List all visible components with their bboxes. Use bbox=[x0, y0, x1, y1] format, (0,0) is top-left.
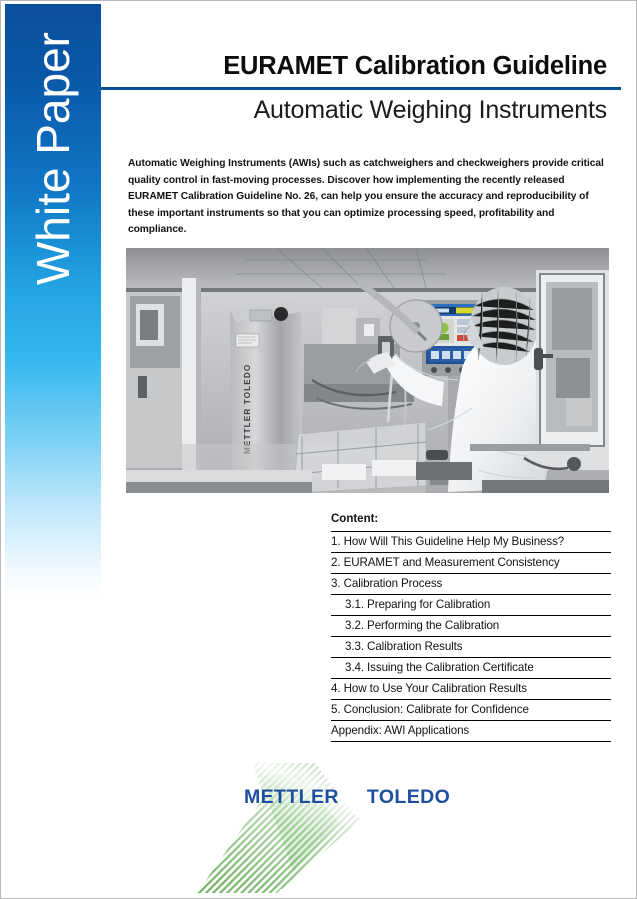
page-title: EURAMET Calibration Guideline bbox=[101, 1, 621, 80]
toc-item[interactable]: 5. Conclusion: Calibrate for Confidence bbox=[331, 700, 611, 721]
hero-photo-illustration: METTLER TOLEDO bbox=[126, 248, 609, 493]
toc-item[interactable]: Appendix: AWI Applications bbox=[331, 721, 611, 742]
logo-word-mettler: METTLER bbox=[244, 786, 339, 808]
logo-word-toledo: TOLEDO bbox=[367, 786, 450, 808]
toc-item[interactable]: 3.3. Calibration Results bbox=[331, 637, 611, 658]
white-paper-page: White Paper EURAMET Calibration Guidelin… bbox=[0, 0, 637, 899]
toc-item[interactable]: 3.4. Issuing the Calibration Certificate bbox=[331, 658, 611, 679]
photo-equipment-brand-text: METTLER TOLEDO bbox=[243, 364, 252, 454]
toc-item[interactable]: 3.1. Preparing for Calibration bbox=[331, 595, 611, 616]
content-heading: Content: bbox=[331, 513, 611, 525]
toc-item[interactable]: 3. Calibration Process bbox=[331, 574, 611, 595]
page-subtitle: Automatic Weighing Instruments bbox=[101, 90, 621, 125]
logo-wordmark: METTLERTOLEDO bbox=[244, 786, 450, 809]
intro-paragraph: Automatic Weighing Instruments (AWIs) su… bbox=[128, 156, 611, 239]
toc-item[interactable]: 4. How to Use Your Calibration Results bbox=[331, 679, 611, 700]
content-list: 1. How Will This Guideline Help My Busin… bbox=[331, 531, 611, 742]
toc-item[interactable]: 2. EURAMET and Measurement Consistency bbox=[331, 553, 611, 574]
logo-stripe-graphic bbox=[189, 753, 489, 893]
sidebar-label-white-paper: White Paper bbox=[26, 32, 80, 285]
sidebar-label-wrapper: White Paper bbox=[5, 4, 101, 596]
toc-item[interactable]: 1. How Will This Guideline Help My Busin… bbox=[331, 532, 611, 553]
hero-photo: METTLER TOLEDO bbox=[126, 248, 609, 493]
content-toc: Content: 1. How Will This Guideline Help… bbox=[331, 513, 611, 742]
header: EURAMET Calibration Guideline Automatic … bbox=[101, 1, 621, 125]
brand-logo: METTLERTOLEDO bbox=[189, 753, 489, 893]
sidebar-blue-band: White Paper bbox=[5, 4, 101, 596]
toc-item[interactable]: 3.2. Performing the Calibration bbox=[331, 616, 611, 637]
